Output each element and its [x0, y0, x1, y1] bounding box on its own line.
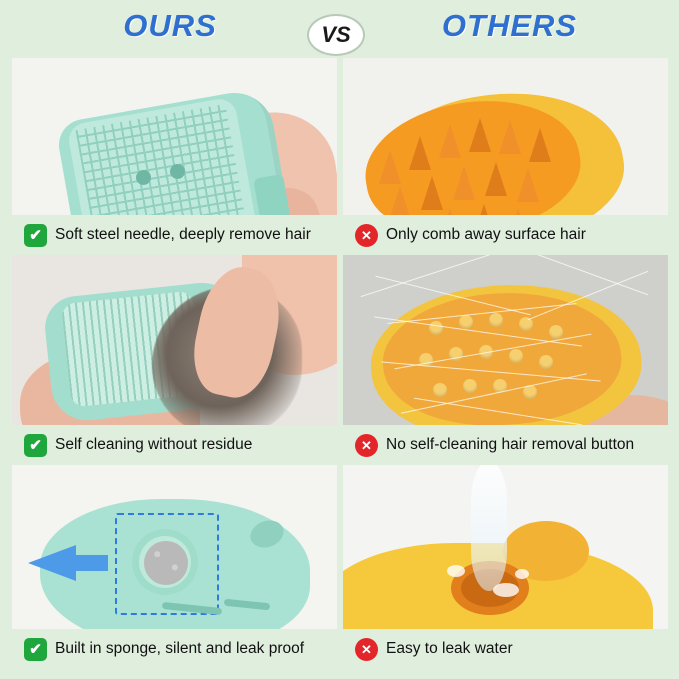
caption-text: Easy to leak water: [386, 640, 513, 658]
cell-others-row1: ✕ Only comb away surface hair: [343, 58, 668, 255]
check-icon: ✔: [24, 434, 47, 457]
plate-hole-right: [170, 164, 185, 179]
caption-ours-row3: ✔ Built in sponge, silent and leak proof: [12, 629, 337, 669]
caption-text: Soft steel needle, deeply remove hair: [55, 226, 311, 244]
pointer-arrow-icon: [12, 465, 337, 629]
pad-bump: [509, 349, 523, 363]
cell-others-row2: ✕ No self-cleaning hair removal button: [343, 255, 668, 465]
rubber-spike: [439, 124, 461, 158]
check-icon: ✔: [24, 638, 47, 661]
caption-ours-row2: ✔ Self cleaning without residue: [12, 425, 337, 465]
cross-icon: ✕: [355, 434, 378, 457]
caption-text: Only comb away surface hair: [386, 226, 586, 244]
caption-text: No self-cleaning hair removal button: [386, 436, 634, 454]
rubber-spike: [453, 166, 475, 200]
rubber-spike: [499, 120, 521, 154]
cross-icon: ✕: [355, 638, 378, 661]
cell-ours-row3: ✔ Built in sponge, silent and leak proof: [12, 465, 337, 669]
water-splash: [515, 569, 529, 579]
water-splash: [493, 583, 519, 597]
pad-bump: [489, 313, 503, 327]
rubber-spike: [421, 176, 443, 210]
rubber-spike: [517, 168, 539, 202]
pad-bump: [429, 321, 443, 335]
rubber-spike: [485, 162, 507, 196]
caption-text: Self cleaning without residue: [55, 436, 252, 454]
check-icon: ✔: [24, 224, 47, 247]
rubber-spike: [469, 118, 491, 152]
cell-ours-row2: ✔ Self cleaning without residue: [12, 255, 337, 465]
header-title-others: OTHERS: [340, 8, 679, 44]
header: OURS OTHERS VS: [0, 0, 679, 58]
caption-others-row2: ✕ No self-cleaning hair removal button: [343, 425, 668, 465]
caption-text: Built in sponge, silent and leak proof: [55, 640, 304, 658]
comparison-infographic: OURS OTHERS VS ✔ Soft steel needle, deep…: [0, 0, 679, 679]
water-stream: [471, 465, 507, 591]
caption-ours-row1: ✔ Soft steel needle, deeply remove hair: [12, 215, 337, 255]
pad-bump: [549, 325, 563, 339]
caption-others-row1: ✕ Only comb away surface hair: [343, 215, 668, 255]
plate-hole-left: [136, 170, 151, 185]
rubber-spike: [529, 128, 551, 162]
pad-bump: [459, 315, 473, 329]
pad-bump: [463, 379, 477, 393]
header-title-ours: OURS: [0, 8, 340, 44]
caption-others-row3: ✕ Easy to leak water: [343, 629, 668, 669]
cross-icon: ✕: [355, 224, 378, 247]
pad-bump: [433, 383, 447, 397]
rubber-spike: [379, 150, 401, 184]
vs-badge: VS: [307, 14, 365, 56]
cell-others-row3: ✕ Easy to leak water: [343, 465, 668, 669]
cell-ours-row1: ✔ Soft steel needle, deeply remove hair: [12, 58, 337, 255]
water-splash: [447, 565, 465, 577]
rubber-spike: [409, 136, 431, 170]
pad-bump: [539, 355, 553, 369]
